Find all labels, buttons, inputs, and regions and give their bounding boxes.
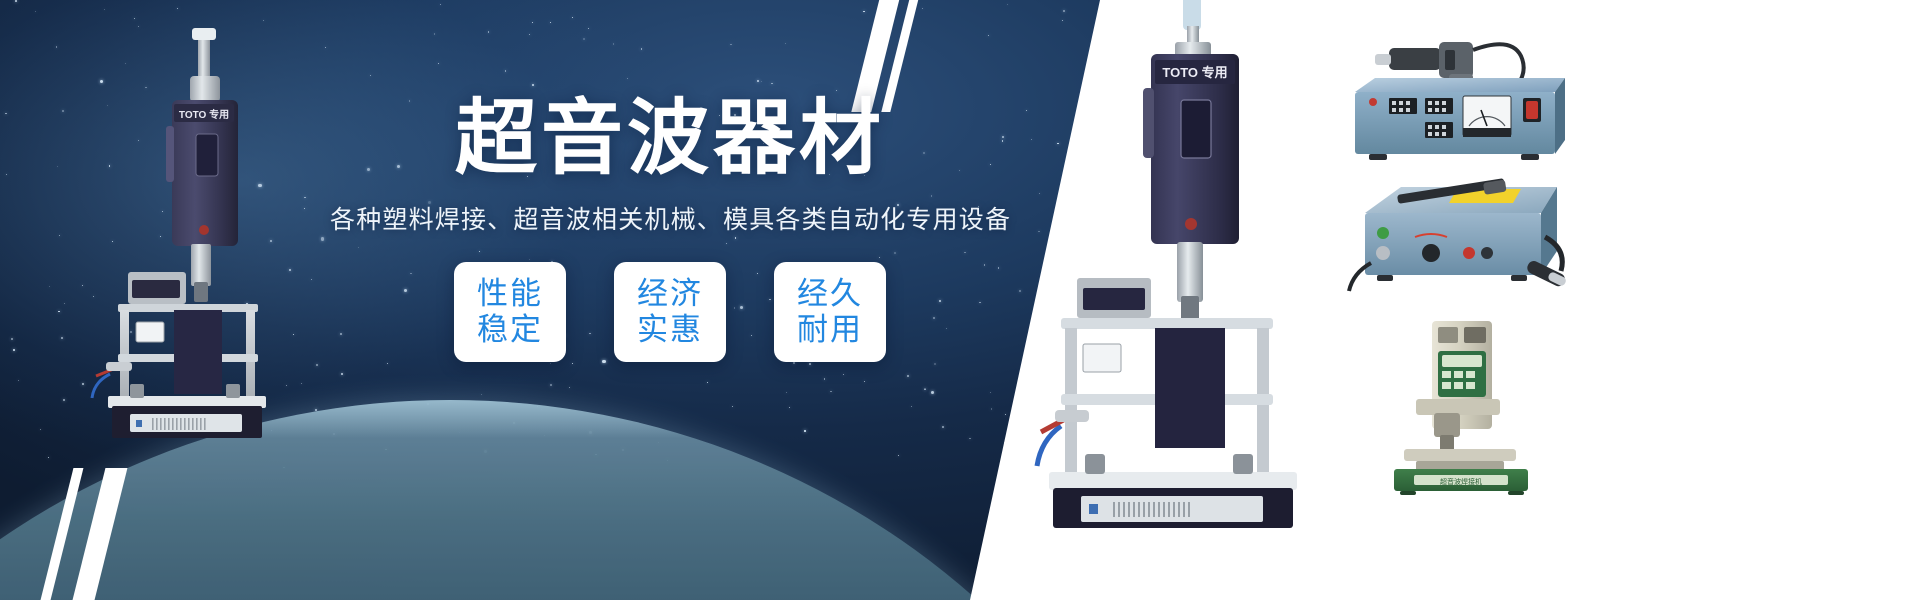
banner-copy: 超音波器材 各种塑料焊接、超音波相关机械、模具各类自动化专用设备 性能 稳定 经… [330, 96, 1010, 362]
photo-welding-machine-left: TOTO 专用 [86, 18, 286, 438]
badge-line-2: 耐用 [797, 312, 863, 349]
feature-badge-economical[interactable]: 经济 实惠 [614, 262, 726, 362]
promo-banner: TOTO 专用 [0, 0, 1920, 600]
feature-badge-performance[interactable]: 性能 稳定 [454, 262, 566, 362]
page-title: 超音波器材 [330, 96, 1010, 182]
feature-badge-list: 性能 稳定 经济 实惠 经久 耐用 [330, 262, 1010, 362]
badge-line-1: 经久 [797, 276, 863, 313]
photo-floor-standing-welder: 超音波焊接机 [1380, 315, 1550, 495]
photo-spot-welder [1345, 175, 1575, 305]
svg-text:超音波焊接机: 超音波焊接机 [1440, 477, 1482, 486]
badge-line-2: 稳定 [477, 312, 543, 349]
feature-badge-durable[interactable]: 经久 耐用 [774, 262, 886, 362]
photo-welding-machine-right: TOTO 专用 [1055, 0, 1305, 600]
badge-line-1: 经济 [637, 276, 703, 313]
svg-text:TOTO 专用: TOTO 专用 [1162, 65, 1227, 80]
banner-subtitle: 各种塑料焊接、超音波相关机械、模具各类自动化专用设备 [330, 200, 1010, 236]
svg-text:TOTO 专用: TOTO 专用 [179, 108, 229, 121]
photo-ultrasonic-generator [1345, 34, 1565, 169]
badge-line-2: 实惠 [637, 312, 703, 349]
badge-line-1: 性能 [477, 276, 543, 313]
